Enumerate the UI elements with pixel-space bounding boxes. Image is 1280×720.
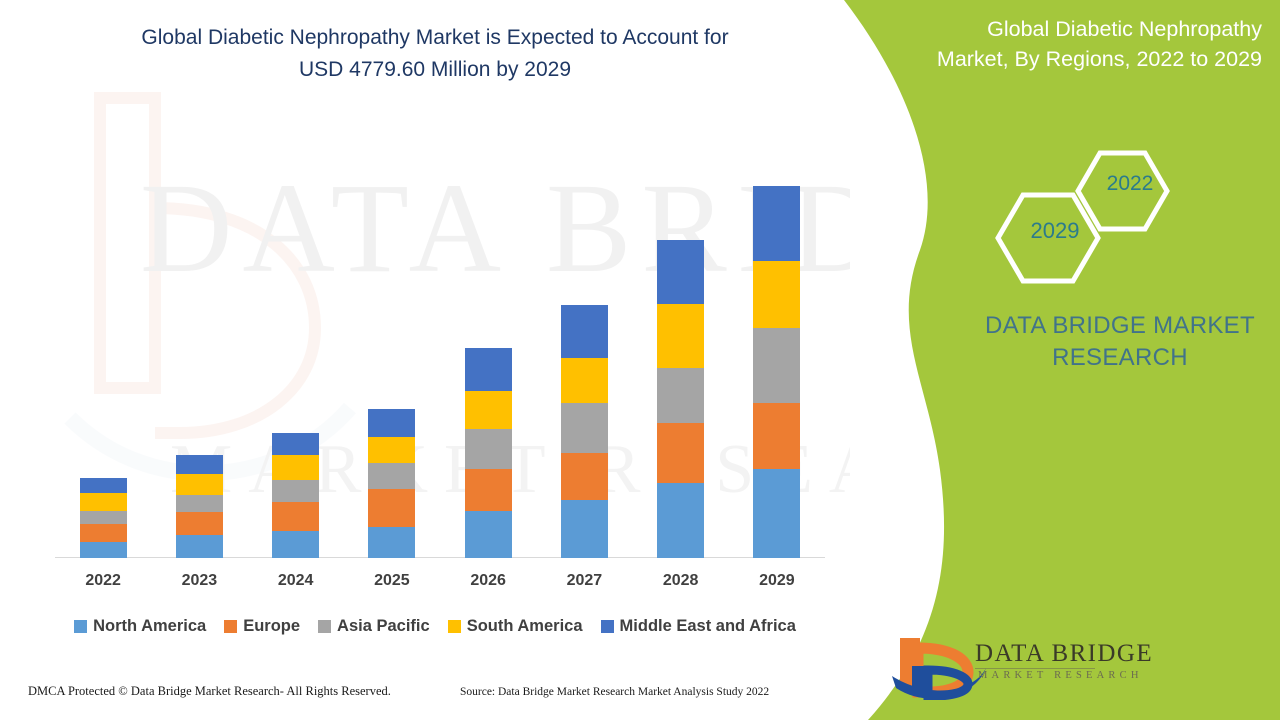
legend-swatch-icon (224, 620, 237, 633)
bar-segment (753, 469, 800, 558)
legend-label: South America (467, 617, 583, 636)
bar-column-2024 (248, 150, 344, 558)
bar-segment (561, 500, 608, 558)
x-axis-label-2023: 2023 (151, 572, 247, 590)
legend-swatch-icon (74, 620, 87, 633)
brand-name: DATA BRIDGE MARKET RESEARCH (960, 310, 1280, 374)
legend-swatch-icon (318, 620, 331, 633)
brand-name-line1: DATA BRIDGE MARKET (985, 312, 1255, 339)
x-axis-label-2026: 2026 (440, 572, 536, 590)
bar-column-2025 (344, 150, 440, 558)
bar-segment (80, 524, 127, 542)
bar-segment (272, 433, 319, 455)
bar-segment (368, 527, 415, 558)
chart-title: Global Diabetic Nephropathy Market is Ex… (40, 22, 830, 86)
bar-segment (368, 437, 415, 463)
right-panel-title: Global Diabetic Nephropathy Market, By R… (932, 14, 1262, 74)
legend-item: North America (74, 617, 206, 636)
chart-x-axis-labels: 20222023202420252026202720282029 (55, 572, 825, 590)
stacked-bar (561, 305, 608, 558)
hexagon-start-year-label: 2022 (1095, 172, 1165, 196)
bar-segment (753, 403, 800, 469)
bar-segment (272, 502, 319, 531)
legend-swatch-icon (448, 620, 461, 633)
bar-column-2029 (729, 150, 825, 558)
bar-segment (176, 512, 223, 535)
hexagon-badges (985, 145, 1185, 285)
legend-item: Europe (224, 617, 300, 636)
bar-segment (753, 328, 800, 403)
legend-item: Middle East and Africa (601, 617, 796, 636)
bar-segment (80, 542, 127, 558)
footer-source: Source: Data Bridge Market Research Mark… (460, 686, 769, 698)
bar-segment (368, 489, 415, 527)
bar-segment (753, 261, 800, 328)
bar-segment (176, 535, 223, 558)
bar-segment (561, 358, 608, 403)
bar-segment (272, 480, 319, 502)
data-bridge-logo-name: DATA BRIDGE (975, 640, 1153, 668)
footer-copyright: DMCA Protected © Data Bridge Market Rese… (28, 684, 391, 699)
chart-legend: North AmericaEuropeAsia PacificSouth Ame… (40, 617, 830, 636)
x-axis-label-2022: 2022 (55, 572, 151, 590)
bar-column-2022 (55, 150, 151, 558)
brand-name-line2: RESEARCH (1052, 344, 1188, 371)
bar-segment (272, 455, 319, 480)
stacked-bar (176, 455, 223, 558)
legend-item: Asia Pacific (318, 617, 430, 636)
x-axis-label-2027: 2027 (536, 572, 632, 590)
bar-column-2026 (440, 150, 536, 558)
bar-segment (657, 423, 704, 483)
bar-segment (176, 474, 223, 495)
stacked-bar (465, 348, 512, 558)
x-axis-label-2028: 2028 (633, 572, 729, 590)
bar-segment (368, 409, 415, 437)
bar-segment (80, 493, 127, 511)
bar-segment (465, 511, 512, 558)
bar-segment (465, 429, 512, 469)
chart-bars (55, 150, 825, 558)
bar-segment (561, 453, 608, 500)
bar-segment (657, 368, 704, 423)
right-panel-title-line1: Global Diabetic Nephropathy (987, 17, 1262, 41)
data-bridge-logo-subtitle: MARKET RESEARCH (978, 670, 1143, 681)
bar-segment (753, 186, 800, 261)
bar-segment (657, 304, 704, 368)
legend-swatch-icon (601, 620, 614, 633)
legend-label: Middle East and Africa (620, 617, 796, 636)
bar-segment (561, 305, 608, 358)
legend-label: Europe (243, 617, 300, 636)
hexagon-end-year-label: 2029 (1015, 218, 1095, 244)
bar-segment (176, 455, 223, 474)
bar-segment (368, 463, 415, 489)
bar-segment (80, 478, 127, 493)
x-axis-label-2025: 2025 (344, 572, 440, 590)
bar-segment (80, 511, 127, 524)
bar-column-2028 (633, 150, 729, 558)
bar-segment (657, 483, 704, 558)
legend-label: North America (93, 617, 206, 636)
bar-segment (176, 495, 223, 512)
chart-title-line2: USD 4779.60 Million by 2029 (299, 58, 571, 81)
hexagon-pair-icon (985, 145, 1185, 285)
stacked-bar (80, 478, 127, 558)
bar-column-2023 (151, 150, 247, 558)
bar-segment (465, 391, 512, 429)
bar-segment (465, 469, 512, 511)
bar-segment (465, 348, 512, 391)
bar-segment (272, 531, 319, 558)
logo-divider (975, 668, 1095, 669)
x-axis-label-2024: 2024 (248, 572, 344, 590)
stacked-bar (657, 240, 704, 558)
legend-label: Asia Pacific (337, 617, 430, 636)
legend-item: South America (448, 617, 583, 636)
right-panel-title-line2: Market, By Regions, 2022 to 2029 (937, 47, 1262, 71)
x-axis-label-2029: 2029 (729, 572, 825, 590)
bar-column-2027 (536, 150, 632, 558)
bar-segment (561, 403, 608, 453)
stacked-bar (272, 433, 319, 558)
stacked-bar (368, 409, 415, 558)
bar-segment (657, 240, 704, 304)
chart-title-line1: Global Diabetic Nephropathy Market is Ex… (141, 26, 728, 49)
stacked-bar (753, 186, 800, 558)
